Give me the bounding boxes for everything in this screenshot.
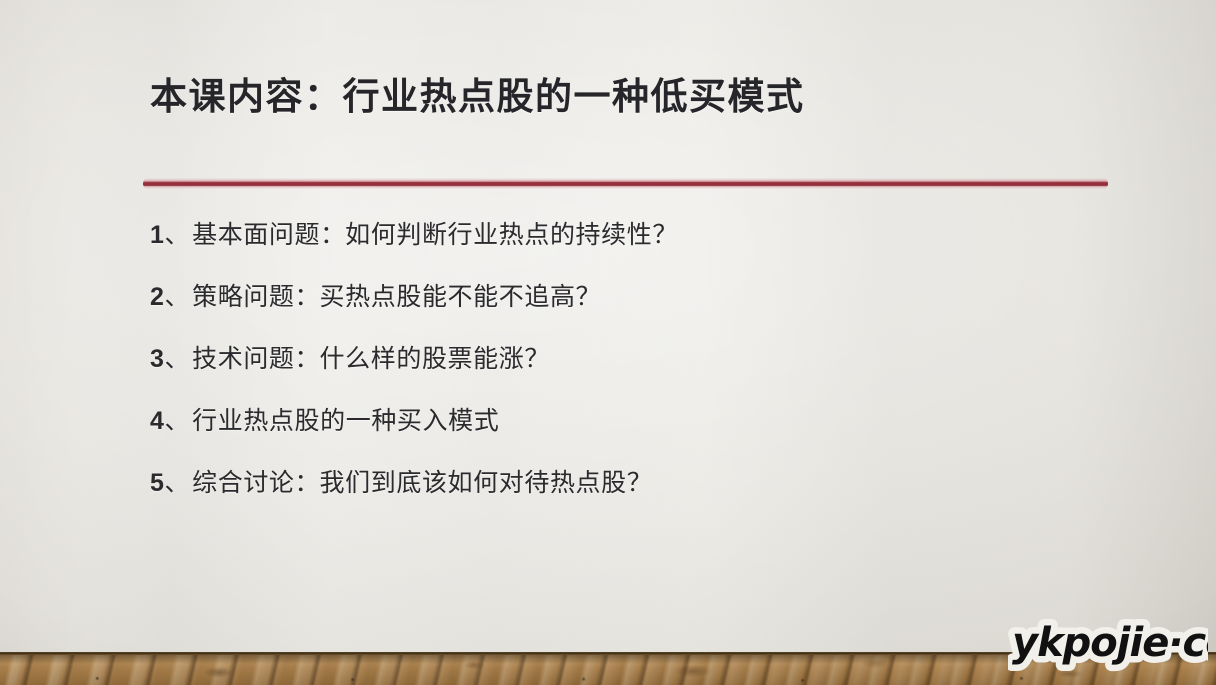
list-item-number: 3	[150, 342, 165, 376]
list-item-detail: 我们到底该如何对待热点股？	[320, 466, 653, 500]
list-item-number: 1	[150, 218, 165, 252]
list-item-colon: ：	[320, 218, 345, 252]
site-watermark: ykpojie·com ykpojie·com	[1008, 612, 1208, 674]
svg-text:ykpojie·com: ykpojie·com	[1012, 620, 1208, 666]
list-item-colon: ：	[295, 342, 320, 376]
list-item-number: 5	[150, 466, 165, 500]
list-item-label: 行业热点股的一种买入模式	[192, 404, 499, 438]
list-item-separator: 、	[165, 466, 191, 500]
list-item: 5 、 综合讨论 ： 我们到底该如何对待热点股？	[150, 466, 1090, 528]
list-item: 3 、 技术问题 ： 什么样的股票能涨？	[150, 342, 1090, 404]
list-item-detail: 什么样的股票能涨？	[320, 342, 550, 376]
list-item-label: 综合讨论	[192, 466, 294, 500]
list-item-detail: 如何判断行业热点的持续性？	[345, 218, 678, 252]
list-item: 2 、 策略问题 ： 买热点股能不能不追高？	[150, 280, 1090, 342]
list-item-separator: 、	[165, 342, 191, 376]
list-item-number: 4	[150, 404, 165, 438]
divider-line	[143, 182, 1108, 186]
page-title: 本课内容：行业热点股的一种低买模式	[150, 73, 805, 121]
list-item-label: 基本面问题	[192, 218, 320, 252]
list-item-detail: 买热点股能不能不追高？	[320, 280, 602, 314]
list-item: 4 、 行业热点股的一种买入模式	[150, 404, 1090, 466]
list-item-separator: 、	[165, 280, 191, 314]
list-item-separator: 、	[165, 218, 191, 252]
list-item-label: 策略问题	[192, 280, 294, 314]
list-item: 1 、 基本面问题 ： 如何判断行业热点的持续性？	[150, 218, 1090, 280]
list-item-number: 2	[150, 280, 165, 314]
list-item-separator: 、	[165, 404, 191, 438]
bullet-list: 1 、 基本面问题 ： 如何判断行业热点的持续性？ 2 、 策略问题 ： 买热点…	[150, 218, 1090, 528]
list-item-label: 技术问题	[192, 342, 294, 376]
title-divider	[143, 178, 1108, 189]
list-item-colon: ：	[295, 466, 320, 500]
list-item-colon: ：	[295, 280, 320, 314]
slide-canvas: 本课内容：行业热点股的一种低买模式 1 、 基本面问题 ： 如何判断行业热点的持…	[0, 0, 1216, 685]
